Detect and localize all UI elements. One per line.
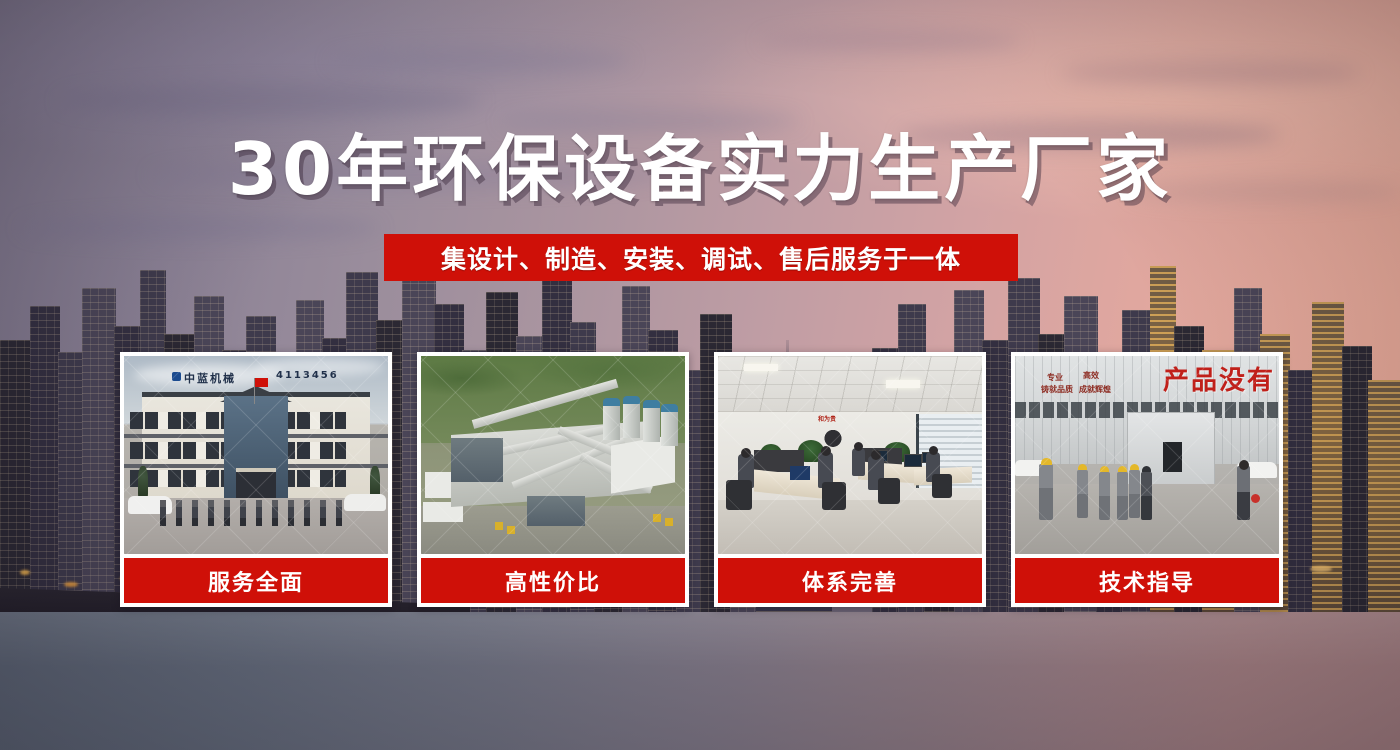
card-caption: 体系完善 [718, 558, 982, 603]
factory-slogan-1: 专业 [1047, 372, 1063, 383]
card-photo-office-interior: 和为贵 [718, 356, 982, 554]
card-caption-text: 体系完善 [802, 565, 898, 597]
feature-card[interactable]: 高性价比 [417, 352, 689, 607]
card-photo-plant-aerial [421, 356, 685, 554]
feature-card[interactable]: 中蓝机械 4113456 服务全面 [120, 352, 392, 607]
factory-slogan-4: 成就辉煌 [1079, 384, 1111, 395]
cloud [760, 30, 1020, 52]
cloud [1060, 60, 1360, 86]
card-photo-office-building: 中蓝机械 4113456 [124, 356, 388, 554]
feature-card[interactable]: 和为贵 [714, 352, 986, 607]
wall-decal-text: 和为贵 [818, 414, 836, 423]
card-caption-text: 技术指导 [1099, 565, 1195, 597]
cloud [330, 48, 630, 74]
cloud [60, 84, 480, 118]
card-caption-text: 服务全面 [208, 565, 304, 597]
card-photo-workers-training: 产品没有 专业 高效 铸就品质 成就辉煌 [1015, 356, 1279, 554]
card-caption-text: 高性价比 [505, 565, 601, 597]
card-caption: 服务全面 [124, 558, 388, 603]
subtitle-text: 集设计、制造、安装、调试、售后服务于一体 [441, 240, 961, 276]
factory-slogan-2: 高效 [1083, 370, 1099, 381]
card-caption: 高性价比 [421, 558, 685, 603]
water-reflection [0, 612, 1400, 750]
card-caption: 技术指导 [1015, 558, 1279, 603]
subtitle-banner: 集设计、制造、安装、调试、售后服务于一体 [384, 234, 1018, 281]
feature-card-list: 中蓝机械 4113456 服务全面 [120, 352, 1280, 607]
building-phone-text: 4113456 [276, 370, 339, 381]
building-sign-text: 中蓝机械 [184, 370, 236, 386]
feature-card[interactable]: 产品没有 专业 高效 铸就品质 成就辉煌 [1011, 352, 1283, 607]
factory-slogan-3: 铸就品质 [1041, 384, 1073, 395]
factory-sign-text: 产品没有 [1163, 360, 1275, 397]
page-title: 30年环保设备实力生产厂家 [0, 133, 1400, 205]
building-logo-icon [172, 372, 181, 381]
